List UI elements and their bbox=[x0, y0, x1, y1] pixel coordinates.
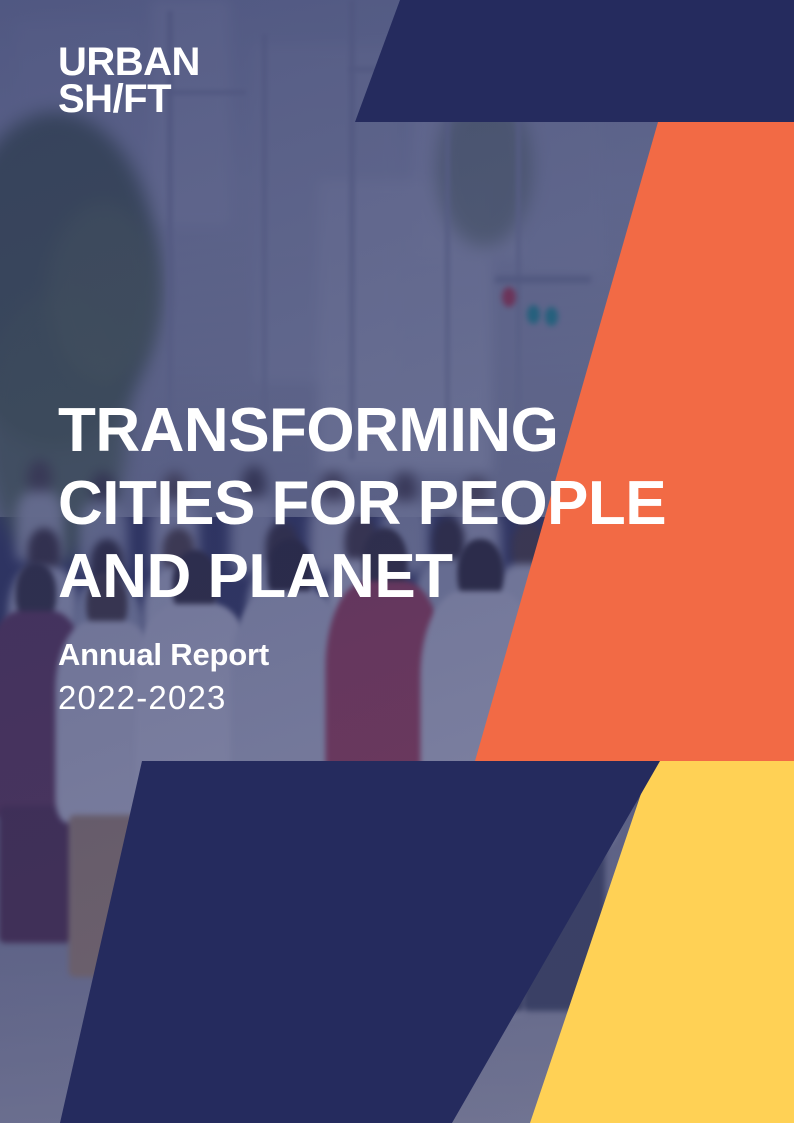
report-label: Annual Report bbox=[58, 638, 269, 672]
report-cover-page: URBAN SH/FT TRANSFORMING CITIES FOR PEOP… bbox=[0, 0, 794, 1123]
title-line-3: AND PLANET bbox=[58, 540, 698, 613]
title-line-1: TRANSFORMING bbox=[58, 394, 698, 467]
page-title: TRANSFORMING CITIES FOR PEOPLE AND PLANE… bbox=[58, 394, 698, 613]
logo-line-shift: SH/FT bbox=[58, 81, 200, 118]
report-years: 2022-2023 bbox=[58, 680, 227, 716]
title-line-2: CITIES FOR PEOPLE bbox=[58, 467, 698, 540]
navy-top-banner-shape bbox=[355, 0, 794, 122]
logo-line-urban: URBAN bbox=[58, 44, 200, 81]
urbanshift-logo: URBAN SH/FT bbox=[58, 44, 200, 118]
